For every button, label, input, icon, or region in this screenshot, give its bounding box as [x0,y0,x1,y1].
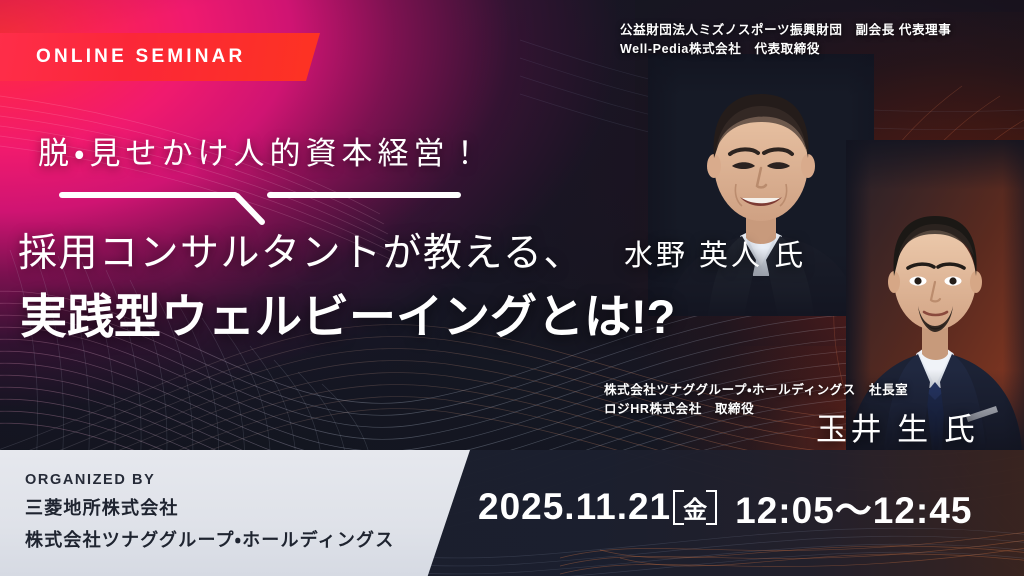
subtitle-underline-bubble [30,190,500,232]
speaker-1-name: 水野 英人 氏 [624,232,806,274]
headline-line-1: 採用コンサルタントが教える、 [18,227,584,281]
organizer-name-2: 株式会社ツナググループ・ホールディングス [25,526,394,552]
online-seminar-label: ONLINE SEMINAR [36,44,245,70]
seminar-subtitle: 脱・見せかけ人的資本経営！ [38,133,486,175]
organizer-name-1: 三菱地所株式会社 [25,494,179,520]
speaker-1-credit-line-1: 公益財団法人ミズノスポーツ振興財団 副会長 代表理事 [620,21,951,40]
schedule-date: 2025.11.21 [478,486,671,528]
schedule-weekday-bracket: 金 [673,488,717,527]
organized-by-label: ORGANIZED BY [25,472,155,488]
schedule-weekday: 金 [682,488,708,527]
speaker-2-credit-line-1: 株式会社ツナググループ・ホールディングス 社長室 [604,381,908,400]
speaker-1-credit: 公益財団法人ミズノスポーツ振興財団 副会長 代表理事 Well-Pedia株式会… [620,21,951,59]
speaker-1-credit-line-2: Well-Pedia株式会社 代表取締役 [620,40,951,59]
schedule-row: 2025.11.21 金 12:05〜12:45 [478,480,972,534]
schedule-time: 12:05〜12:45 [735,480,972,534]
seminar-banner: ONLINE SEMINAR 脱・見せかけ人的資本経営！ 採用コンサルタントが教… [0,0,1024,576]
speaker-2-name: 玉井 生 氏 [816,404,978,449]
headline-line-2: 実践型ウェルビーイングとは!? [20,284,675,350]
speaker-photo-1 [648,54,874,316]
